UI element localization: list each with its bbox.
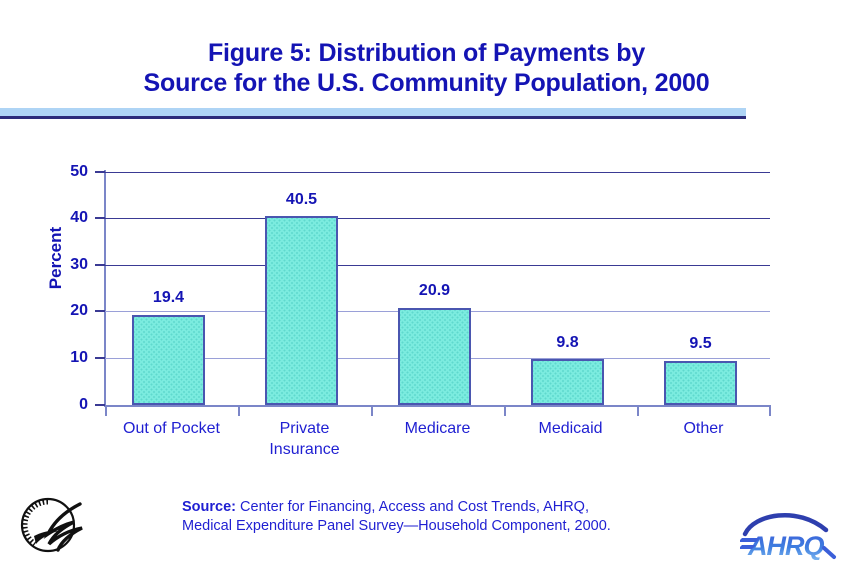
plot-area: 19.4 40.5 20.9 9.8 9.5: [105, 172, 770, 405]
bar-other[interactable]: [664, 361, 737, 405]
bar-value-private-insurance: 40.5: [265, 192, 338, 208]
bar-value-out-of-pocket: 19.4: [132, 290, 205, 306]
hhs-seal-icon: [18, 492, 90, 558]
y-tick-mark-40: [95, 217, 105, 219]
gridline-50: [105, 172, 770, 173]
x-label-line: Medicare: [371, 418, 504, 439]
x-label-line: Private: [238, 418, 371, 439]
x-tick-3: [504, 407, 506, 416]
x-tick-5: [769, 407, 771, 416]
title-line-2: Source for the U.S. Community Population…: [0, 68, 853, 98]
divider-band: [0, 108, 746, 116]
bar-out-of-pocket[interactable]: [132, 315, 205, 405]
y-tick-label-0: 0: [42, 397, 88, 413]
source-label: Source:: [182, 499, 236, 515]
y-tick-mark-30: [95, 264, 105, 266]
title-line-1: Figure 5: Distribution of Payments by: [0, 38, 853, 68]
header-divider: [0, 108, 746, 119]
x-tick-2: [371, 407, 373, 416]
bar-value-medicaid: 9.8: [531, 335, 604, 351]
divider-line: [0, 116, 746, 119]
gridline-30: [105, 265, 770, 266]
x-axis-line: [104, 405, 771, 407]
x-label-line: Medicaid: [504, 418, 637, 439]
y-tick-label-10: 10: [42, 350, 88, 366]
x-label-line: Insurance: [238, 439, 371, 460]
x-axis-label-other: Other: [637, 418, 770, 439]
svg-text:AHRQ: AHRQ: [747, 531, 824, 560]
x-axis-label-private-insurance: Private Insurance: [238, 418, 371, 460]
ahrq-logo-icon: AHRQ: [740, 508, 845, 560]
x-tick-4: [637, 407, 639, 416]
bar-chart: Percent 50 40 30 20 10 0 19.4 40.5 20.9 …: [0, 160, 853, 460]
y-tick-mark-50: [95, 171, 105, 173]
bar-value-other: 9.5: [664, 336, 737, 352]
bar-medicaid[interactable]: [531, 359, 604, 405]
x-axis-label-medicaid: Medicaid: [504, 418, 637, 439]
x-tick-1: [238, 407, 240, 416]
source-note: Source: Center for Financing, Access and…: [182, 498, 702, 536]
gridline-40: [105, 218, 770, 219]
source-line-1: Source: Center for Financing, Access and…: [182, 498, 702, 517]
y-tick-label-30: 30: [42, 257, 88, 273]
y-tick-label-40: 40: [42, 210, 88, 226]
source-line-1-text: Center for Financing, Access and Cost Tr…: [236, 499, 589, 515]
source-line-2: Medical Expenditure Panel Survey—Househo…: [182, 517, 702, 536]
y-tick-mark-0: [95, 404, 105, 406]
bar-value-medicare: 20.9: [398, 283, 471, 299]
y-tick-mark-10: [95, 357, 105, 359]
x-label-line: Other: [637, 418, 770, 439]
x-label-line: Out of Pocket: [105, 418, 238, 439]
x-axis-label-out-of-pocket: Out of Pocket: [105, 418, 238, 439]
y-tick-label-20: 20: [42, 303, 88, 319]
y-tick-mark-20: [95, 310, 105, 312]
bar-private-insurance[interactable]: [265, 216, 338, 405]
bar-medicare[interactable]: [398, 308, 471, 405]
y-tick-label-50: 50: [42, 164, 88, 180]
x-axis-label-medicare: Medicare: [371, 418, 504, 439]
page-title: Figure 5: Distribution of Payments by So…: [0, 38, 853, 98]
x-tick-0: [105, 407, 107, 416]
